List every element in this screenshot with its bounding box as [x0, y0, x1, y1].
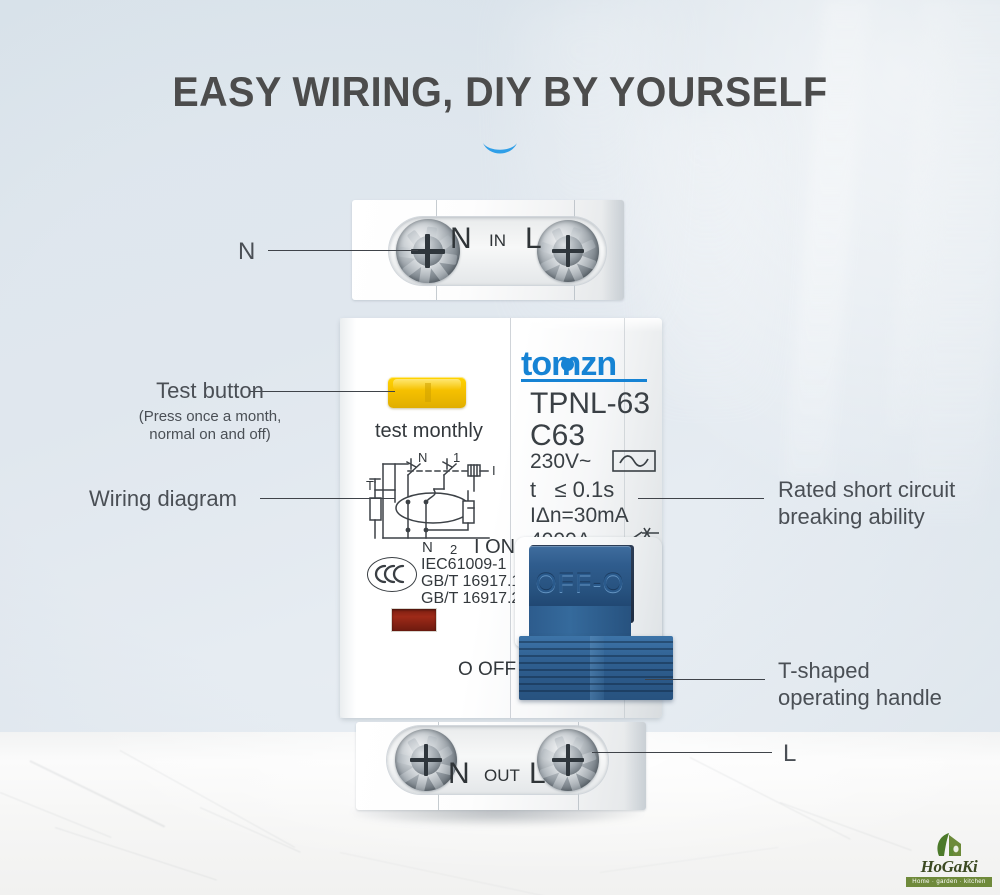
- schematic-label-t: T: [366, 478, 374, 493]
- off-position-label: O OFF: [458, 659, 516, 681]
- leader-line-live: [592, 752, 772, 753]
- handle-grip-rib: [519, 690, 673, 692]
- callout-test-button-note-2: normal on and off): [110, 426, 310, 444]
- brand-logo-underline: [521, 379, 647, 382]
- watermark-tagline: Home · garden · kitchen: [906, 877, 992, 887]
- leader-line-short-circuit: [638, 498, 764, 499]
- body-left-bevel: [340, 318, 356, 718]
- page-title: EASY WIRING, DIY BY YOURSELF: [30, 68, 970, 116]
- standard-line-2: GB/T 16917.1: [421, 573, 520, 591]
- handle-grip-rib: [519, 669, 673, 671]
- schematic-label-2-bottom: 2: [450, 542, 457, 557]
- leader-line-wiring-diagram: [260, 498, 395, 499]
- callout-handle: T-shaped operating handle: [778, 658, 942, 712]
- chevron-down-icon: [480, 140, 520, 167]
- handle-grip-rib: [519, 641, 673, 643]
- callout-short-circuit-line-1: Rated short circuit: [778, 477, 955, 504]
- callout-handle-line-2: operating handle: [778, 685, 942, 712]
- handle-grip-rib: [519, 683, 673, 685]
- standard-line-1: IEC61009-1: [421, 556, 506, 574]
- terminal-label-bottom-l: L: [529, 757, 546, 791]
- terminal-screw-bottom-l: [537, 729, 599, 791]
- terminal-label-top-in: IN: [489, 231, 506, 251]
- terminal-label-top-n: N: [450, 222, 472, 256]
- callout-live-bottom: L: [783, 739, 796, 768]
- leader-line-neutral: [268, 250, 418, 251]
- handle-off-text: OFF-O: [529, 568, 631, 599]
- body-top-bevel: [340, 318, 662, 332]
- schematic-label-i-right: I: [492, 463, 496, 478]
- ccc-certification-mark: [367, 557, 417, 592]
- trip-time: t ≤ 0.1s: [530, 477, 614, 503]
- watermark-logo: HoGaKi Home · garden · kitchen: [906, 830, 992, 887]
- callout-neutral-top: N: [238, 237, 255, 266]
- model-number: TPNL-63: [530, 387, 650, 421]
- screw-slot: [424, 744, 428, 776]
- callout-test-button-title: Test button: [110, 378, 310, 405]
- screw-slot: [425, 234, 429, 267]
- infographic-canvas: EASY WIRING, DIY BY YOURSELF: [0, 0, 1000, 895]
- schematic-label-n-switch: N: [418, 450, 427, 465]
- standard-line-3: GB/T 16917.22: [421, 590, 529, 608]
- callout-test-button-note-1: (Press once a month,: [110, 408, 310, 426]
- schematic-label-n-bottom: N: [422, 539, 433, 556]
- schematic-label-1-switch: 1: [453, 450, 460, 465]
- handle-toggle-face[interactable]: OFF-O: [529, 546, 631, 610]
- handle-neck: [529, 606, 631, 638]
- screw-slot: [566, 744, 570, 776]
- terminal-screw-top-l: [537, 220, 599, 282]
- handle-grip-rib: [519, 655, 673, 657]
- test-button[interactable]: [388, 377, 466, 408]
- rated-voltage: 230V~: [530, 450, 591, 474]
- callout-handle-line-1: T-shaped: [778, 658, 942, 685]
- housing-edge: [624, 722, 646, 810]
- terminal-label-bottom-out: OUT: [484, 766, 520, 786]
- handle-grip-rib: [519, 662, 673, 664]
- callout-test-button: Test button (Press once a month, normal …: [110, 378, 310, 444]
- leader-line-handle: [645, 679, 765, 680]
- handle-grip-rib: [519, 648, 673, 650]
- watermark-leaf-house-icon: [906, 830, 992, 858]
- ac-waveform-symbol: [612, 450, 656, 477]
- terminal-label-bottom-n: N: [448, 757, 470, 791]
- brand-logo-dot: [561, 358, 574, 371]
- callout-wiring-diagram: Wiring diagram: [89, 486, 237, 513]
- curve-rating: C63: [530, 419, 585, 453]
- callout-short-circuit-line-2: breaking ability: [778, 504, 955, 531]
- terminal-label-top-l: L: [525, 222, 542, 256]
- screw-slot: [566, 235, 570, 267]
- handle-t-grip[interactable]: [519, 636, 673, 700]
- test-monthly-label: test monthly: [375, 420, 483, 443]
- test-button-notch: [425, 383, 430, 403]
- status-indicator-window: [391, 608, 437, 632]
- handle-grip-rib: [519, 676, 673, 678]
- callout-short-circuit: Rated short circuit breaking ability: [778, 477, 955, 531]
- watermark-brand-name: HoGaKi: [906, 858, 992, 875]
